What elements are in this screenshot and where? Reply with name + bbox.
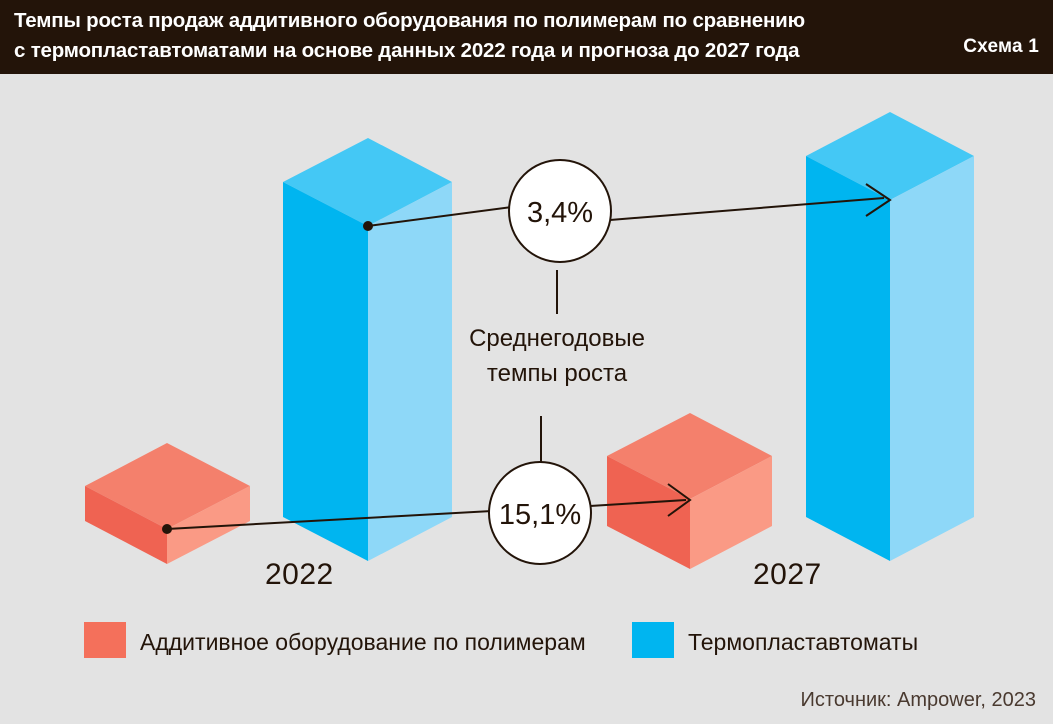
legend-swatch-injection bbox=[632, 622, 674, 658]
bubble-blue-value: 3,4% bbox=[527, 197, 593, 229]
page-title: Темпы роста продаж аддитивного оборудова… bbox=[14, 6, 914, 66]
bubble-red-value: 15,1% bbox=[499, 499, 581, 531]
legend-label-injection: Термопластавтоматы bbox=[688, 629, 918, 655]
bar-blue-2027-right bbox=[890, 156, 974, 561]
cagr-caption-line2: темпы роста bbox=[487, 360, 628, 387]
infographic-page: Темпы роста продаж аддитивного оборудова… bbox=[0, 0, 1053, 724]
year-label-2022: 2022 bbox=[265, 558, 334, 591]
legend-label-additive: Аддитивное оборудование по полимерам bbox=[140, 629, 586, 655]
bubble-red[interactable]: 15,1% bbox=[489, 462, 591, 564]
bar-blue-2022 bbox=[283, 138, 452, 561]
isometric-bar-chart: 3,4% 15,1% Среднегодовые темпы роста 202… bbox=[0, 74, 1053, 724]
bar-blue-2027 bbox=[806, 112, 974, 561]
bar-blue-2027-left bbox=[806, 156, 890, 561]
cagr-caption-line1: Среднегодовые bbox=[469, 325, 645, 352]
source-note: Источник: Ampower, 2023 bbox=[801, 689, 1036, 711]
legend-swatch-additive bbox=[84, 622, 126, 658]
scheme-badge: Схема 1 bbox=[963, 36, 1039, 58]
year-label-2027: 2027 bbox=[753, 558, 822, 591]
bar-blue-2022-right bbox=[368, 182, 452, 561]
bar-blue-2022-left bbox=[283, 182, 368, 561]
header-bar: Темпы роста продаж аддитивного оборудова… bbox=[0, 0, 1053, 74]
bubble-blue[interactable]: 3,4% bbox=[509, 160, 611, 262]
